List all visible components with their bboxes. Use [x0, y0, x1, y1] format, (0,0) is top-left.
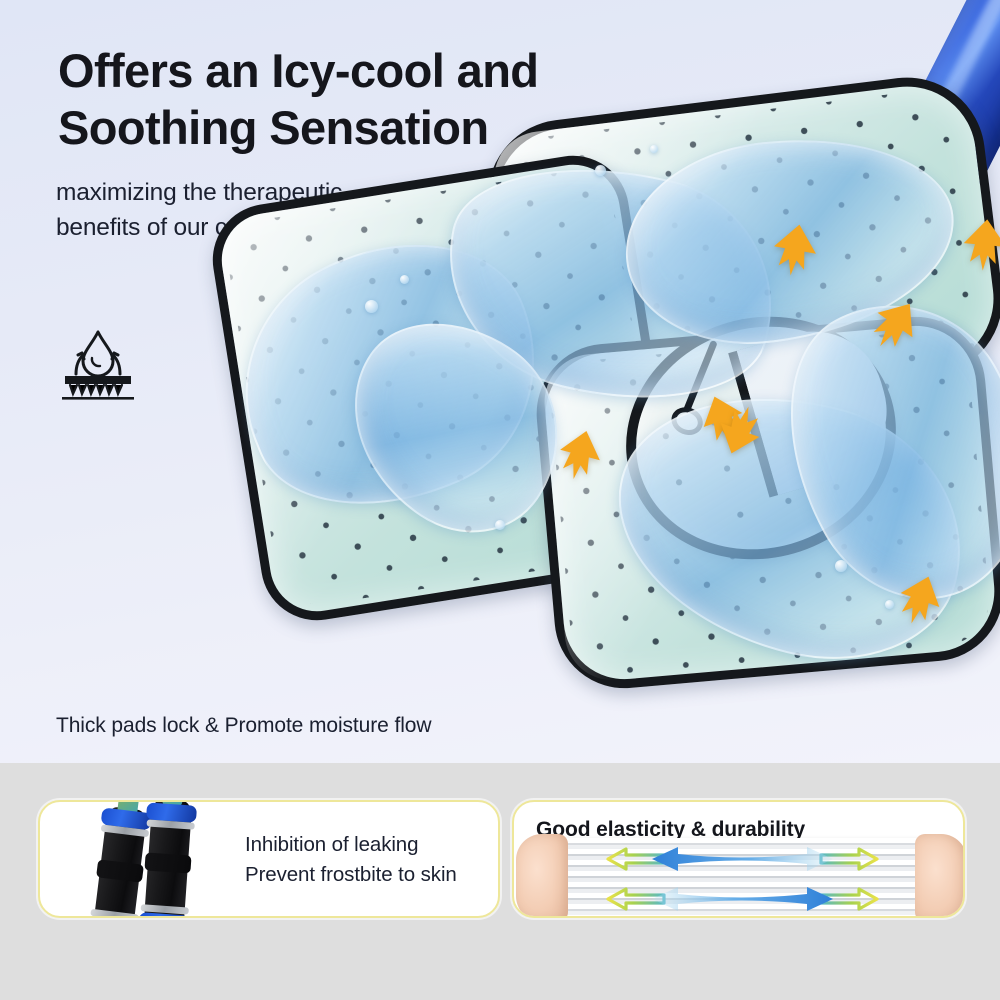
water-droplet	[595, 165, 606, 176]
product-photo	[195, 0, 1000, 763]
card-text-line-1: Inhibition of leaking	[245, 830, 457, 860]
water-droplet	[365, 300, 378, 313]
inhibition-of-leaking-card[interactable]: Inhibition of leaking Prevent frostbite …	[38, 800, 500, 918]
water-droplet	[650, 145, 658, 153]
stretch-arrow-row	[560, 886, 925, 912]
moisture-wicking-icon	[52, 322, 144, 404]
quick-connect-coupler	[144, 800, 193, 918]
quick-connect-coupler-photo	[92, 800, 242, 918]
stretched-pad-hands-photo	[514, 838, 965, 918]
water-droplet	[495, 520, 505, 530]
water-droplet	[835, 560, 847, 572]
product-marketing-image: Offers an Icy-cool and Soothing Sensatio…	[0, 0, 1000, 1000]
hero-section: Offers an Icy-cool and Soothing Sensatio…	[0, 0, 1000, 763]
quick-connect-coupler	[92, 806, 147, 918]
water-droplet	[400, 275, 409, 284]
coupler-collar	[87, 917, 139, 918]
card-text: Inhibition of leaking Prevent frostbite …	[245, 830, 457, 891]
card-text-line-2: Prevent frostbite to skin	[245, 860, 457, 890]
stretch-arrow-row	[560, 846, 925, 872]
feature-cards-section: Inhibition of leaking Prevent frostbite …	[0, 763, 1000, 1000]
elasticity-durability-card[interactable]: Good elasticity & durability	[512, 800, 965, 918]
feature-caption: Thick pads lock & Promote moisture flow	[56, 714, 431, 738]
coupler-ring	[90, 909, 138, 918]
